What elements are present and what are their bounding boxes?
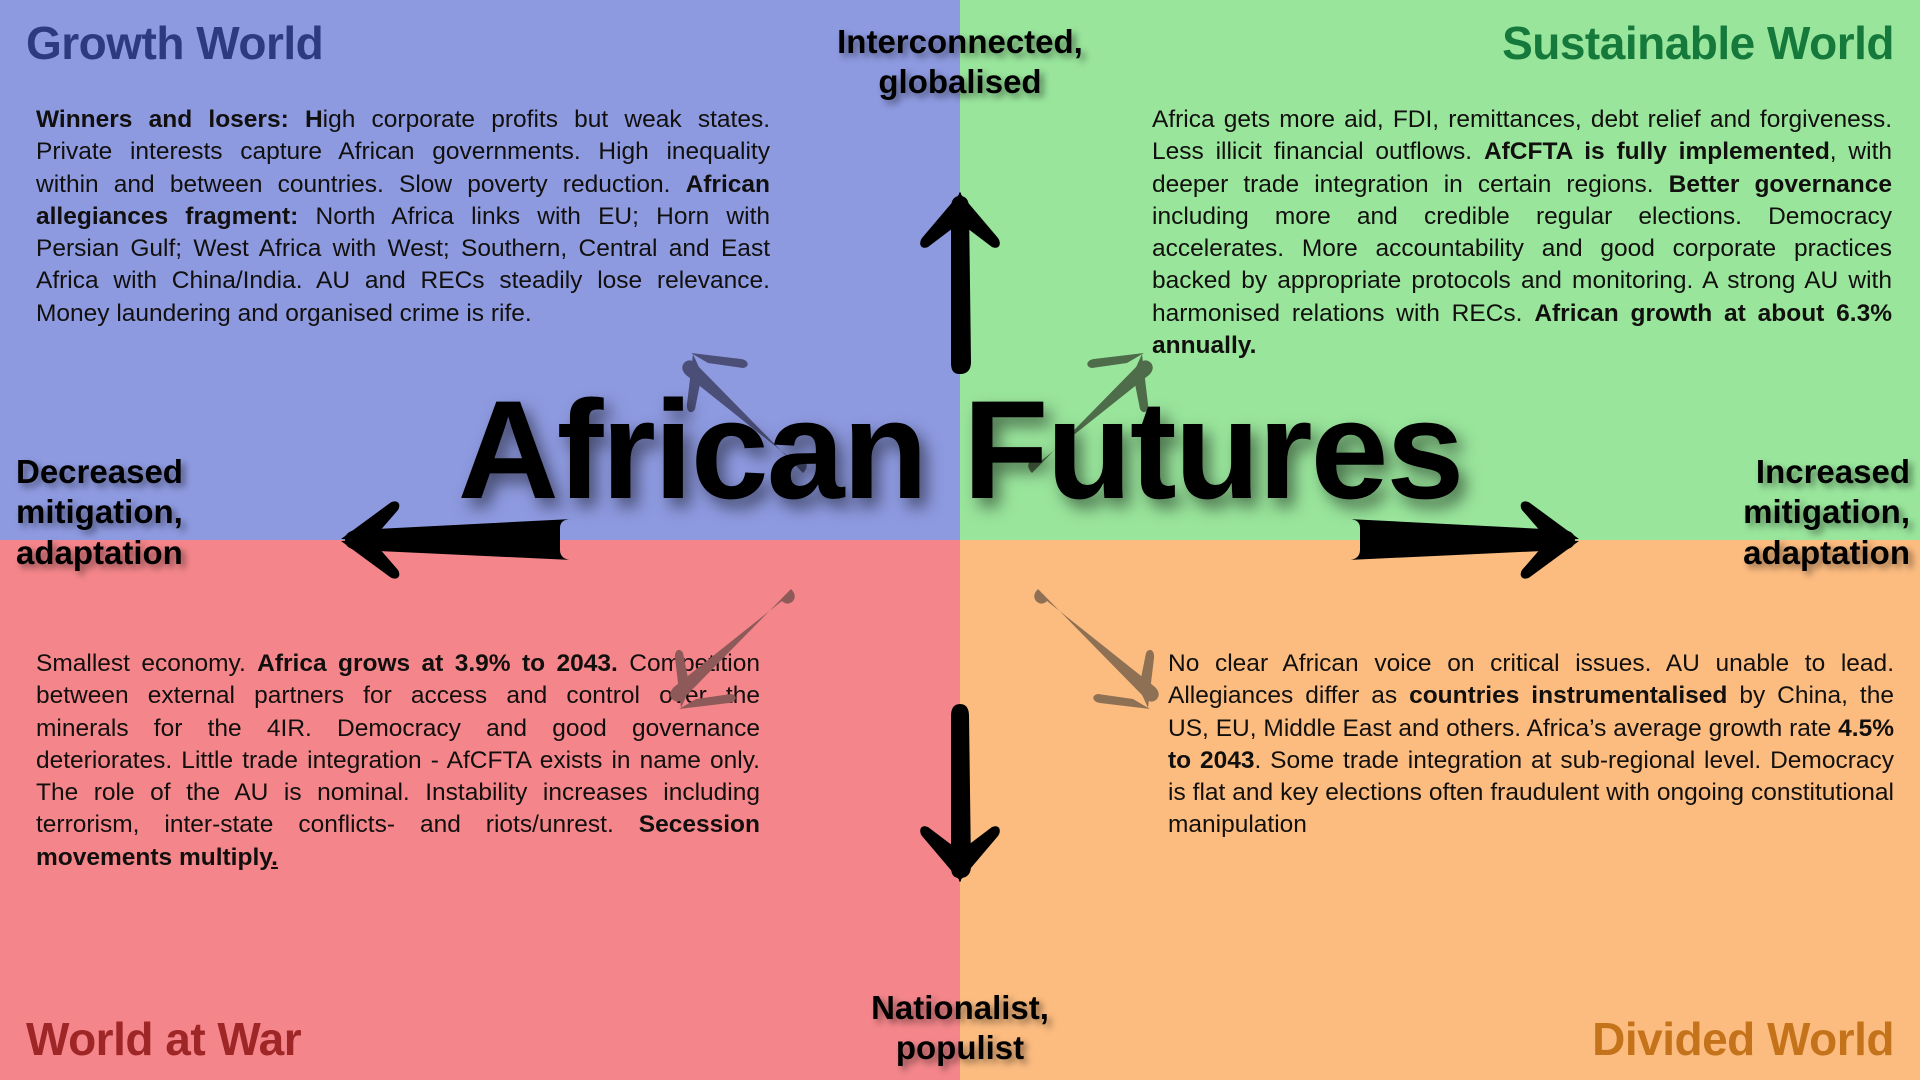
african-futures-scenario-matrix: Growth World Sustainable World World at …	[0, 0, 1920, 1080]
quadrant-body-growth-world: Winners and losers: High corporate profi…	[36, 104, 770, 330]
axis-label-nationalist-populist: Nationalist, populist	[0, 988, 1920, 1069]
quadrant-body-world-at-war: Smallest economy. Africa grows at 3.9% t…	[36, 648, 760, 874]
quadrant-body-divided-world: No clear African voice on critical issue…	[1168, 648, 1894, 842]
center-title-african-futures: African Futures	[0, 380, 1920, 520]
quadrant-body-sustainable-world: Africa gets more aid, FDI, remittances, …	[1152, 104, 1892, 362]
axis-label-interconnected-globalised: Interconnected, globalised	[0, 22, 1920, 103]
